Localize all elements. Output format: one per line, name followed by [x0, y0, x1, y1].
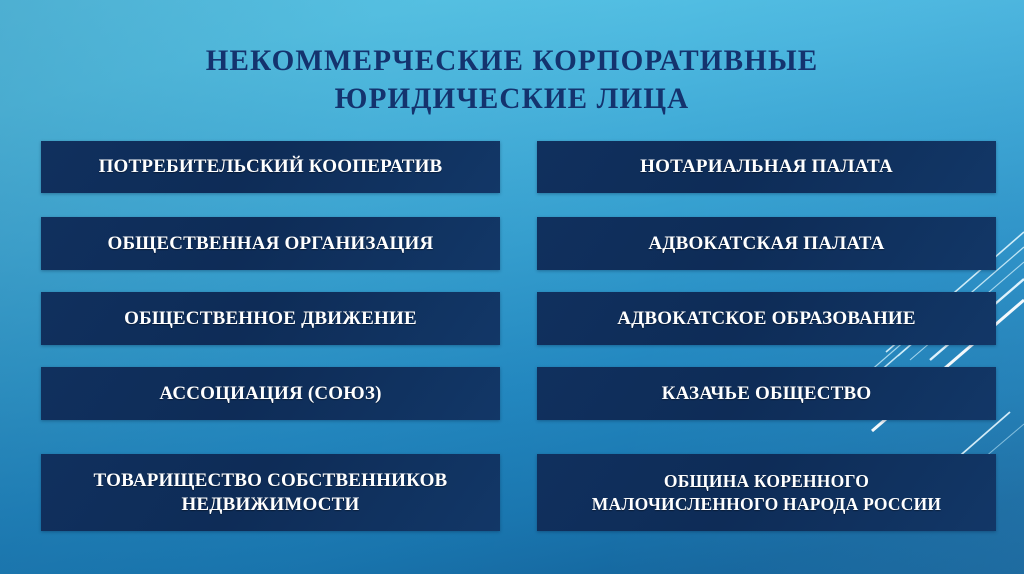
entity-box-label: НОТАРИАЛЬНАЯ ПАЛАТА: [640, 155, 893, 179]
entity-box-label: ОБЩЕСТВЕННОЕ ДВИЖЕНИЕ: [124, 307, 417, 331]
entity-box-association-union[interactable]: АССОЦИАЦИЯ (СОЮЗ): [41, 367, 500, 420]
entity-box-label: АДВОКАТСКОЕ ОБРАЗОВАНИЕ: [617, 307, 916, 331]
entity-box-label: АССОЦИАЦИЯ (СОЮЗ): [159, 382, 381, 406]
entity-box-label: ОБЩЕСТВЕННАЯ ОРГАНИЗАЦИЯ: [108, 232, 434, 256]
entity-box-bar-education[interactable]: АДВОКАТСКОЕ ОБРАЗОВАНИЕ: [537, 292, 996, 345]
entity-box-bar-chamber[interactable]: АДВОКАТСКАЯ ПАЛАТА: [537, 217, 996, 270]
entity-box-property-owners-partnership[interactable]: ТОВАРИЩЕСТВО СОБСТВЕННИКОВ НЕДВИЖИМОСТИ: [41, 454, 500, 531]
entity-columns: ПОТРЕБИТЕЛЬСКИЙ КООПЕРАТИВ ОБЩЕСТВЕННАЯ …: [0, 141, 1024, 541]
entity-box-label: ОБЩИНА КОРЕННОГО МАЛОЧИСЛЕННОГО НАРОДА Р…: [592, 470, 941, 516]
entity-box-public-movement[interactable]: ОБЩЕСТВЕННОЕ ДВИЖЕНИЕ: [41, 292, 500, 345]
entity-box-indigenous-community[interactable]: ОБЩИНА КОРЕННОГО МАЛОЧИСЛЕННОГО НАРОДА Р…: [537, 454, 996, 531]
entity-box-consumer-cooperative[interactable]: ПОТРЕБИТЕЛЬСКИЙ КООПЕРАТИВ: [41, 141, 500, 193]
entity-box-notary-chamber[interactable]: НОТАРИАЛЬНАЯ ПАЛАТА: [537, 141, 996, 193]
entity-box-label: ПОТРЕБИТЕЛЬСКИЙ КООПЕРАТИВ: [99, 155, 443, 179]
entity-box-label: АДВОКАТСКАЯ ПАЛАТА: [648, 232, 884, 256]
entity-box-cossack-society[interactable]: КАЗАЧЬЕ ОБЩЕСТВО: [537, 367, 996, 420]
slide-canvas: НЕКОММЕРЧЕСКИЕ КОРПОРАТИВНЫЕ ЮРИДИЧЕСКИЕ…: [0, 0, 1024, 574]
entity-box-label: ТОВАРИЩЕСТВО СОБСТВЕННИКОВ НЕДВИЖИМОСТИ: [94, 469, 448, 517]
entity-box-label: КАЗАЧЬЕ ОБЩЕСТВО: [662, 382, 872, 406]
entity-box-public-organization[interactable]: ОБЩЕСТВЕННАЯ ОРГАНИЗАЦИЯ: [41, 217, 500, 270]
page-title-line-2: ЮРИДИЧЕСКИЕ ЛИЦА: [15, 80, 1008, 118]
page-title: НЕКОММЕРЧЕСКИЕ КОРПОРАТИВНЫЕ ЮРИДИЧЕСКИЕ…: [0, 42, 1024, 118]
page-title-line-1: НЕКОММЕРЧЕСКИЕ КОРПОРАТИВНЫЕ: [15, 42, 1008, 80]
